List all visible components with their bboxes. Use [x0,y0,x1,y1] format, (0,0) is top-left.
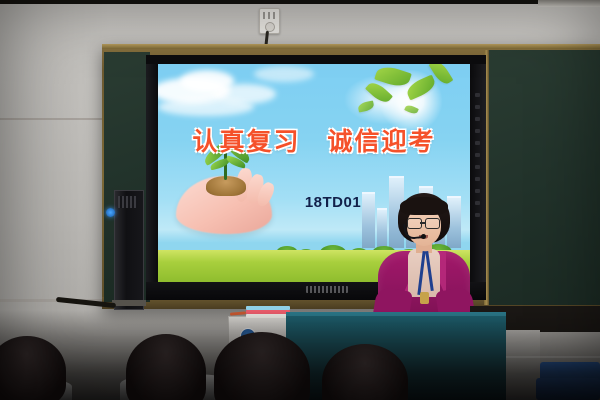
teacher-bangs [400,197,448,215]
display-bezel-left [146,55,158,300]
display-brand-logo [306,286,348,293]
teacher-figure [376,193,472,328]
chalkboard-panel-right [487,50,600,305]
frame-top-highlight [102,44,600,49]
side-speaker-panel [114,190,144,310]
speaker-grill [118,196,138,208]
classroom-photo-scene: 认真复习 诚信迎考 18TD01 [0,0,600,400]
display-bezel-right [470,55,486,300]
cloud-icon [158,98,254,116]
wall-power-socket[interactable] [259,8,280,34]
microphone-tip [421,234,426,239]
speaker-base [112,300,146,306]
cloud-icon [254,66,314,82]
eyeglasses-icon [425,218,440,229]
slide-title: 认真复习 诚信迎考 [158,122,470,158]
ceiling-metal-strip [538,0,600,7]
ceiling-edge [0,0,600,4]
power-indicator-led [106,208,115,217]
socket-holes [263,12,276,19]
student-head [126,334,206,400]
display-bezel-top [146,55,486,64]
id-badge [420,292,429,304]
